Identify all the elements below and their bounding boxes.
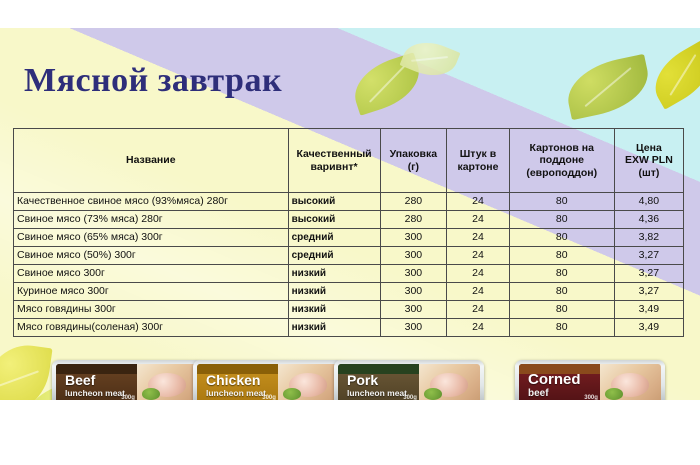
product-can-pork: Pork luncheon meat 300g — [334, 360, 484, 400]
can-weight-label: 300g — [584, 395, 598, 400]
cell-quality: низкий — [288, 319, 380, 337]
cell-price: 3,27 — [614, 265, 683, 283]
can-body: Pork luncheon meat 300g — [338, 364, 480, 400]
cell-quality: низкий — [288, 301, 380, 319]
cell-price: 3,49 — [614, 301, 683, 319]
column-header-package: Упаковка (г) — [380, 129, 447, 193]
can-food-photo — [137, 364, 198, 400]
cell-quality: средний — [288, 229, 380, 247]
cell-package: 300 — [380, 247, 447, 265]
can-food-photo — [278, 364, 339, 400]
column-header-quality-line1: Качественный — [296, 148, 371, 160]
leaf-decoration-icon — [562, 54, 655, 120]
column-header-pallet: Картонов на поддоне (европоддон) — [509, 129, 614, 193]
cell-price: 4,80 — [614, 193, 683, 211]
column-header-per-carton-line1: Штук в — [460, 148, 496, 160]
column-header-price-line2: EXW PLN — [625, 154, 673, 166]
cell-price: 3,27 — [614, 247, 683, 265]
can-weight-label: 300g — [403, 395, 417, 400]
page-title: Мясной завтрак — [24, 62, 282, 100]
column-header-quality: Качественный варивнт* — [288, 129, 380, 193]
can-label: Corned beef 300g — [519, 364, 600, 400]
can-body: Corned beef 300g — [519, 364, 661, 400]
cell-price: 3,27 — [614, 283, 683, 301]
cell-name: Свиное мясо (73% мяса) 280г — [14, 211, 289, 229]
cell-pallet: 80 — [509, 247, 614, 265]
price-table: Название Качественный варивнт* Упаковка … — [13, 128, 684, 337]
can-weight-label: 300g — [121, 395, 135, 400]
cell-name: Свиное мясо (50%) 300г — [14, 247, 289, 265]
cell-package: 280 — [380, 193, 447, 211]
can-weight-label: 300g — [262, 395, 276, 400]
table-row: Мясо говядины 300гнизкий30024803,49 — [14, 301, 684, 319]
table-header: Название Качественный варивнт* Упаковка … — [14, 129, 684, 193]
can-body: Beef luncheon meat 300g — [56, 364, 198, 400]
cell-pallet: 80 — [509, 193, 614, 211]
column-header-price: Цена EXW PLN (шт) — [614, 129, 683, 193]
leaf-decoration-icon — [347, 52, 427, 115]
can-label-top-stripe — [519, 364, 600, 374]
table-header-row: Название Качественный варивнт* Упаковка … — [14, 129, 684, 193]
can-product-name: Chicken — [206, 373, 278, 387]
cell-quality: средний — [288, 247, 380, 265]
can-food-photo — [419, 364, 480, 400]
cell-quality: высокий — [288, 211, 380, 229]
cell-price: 3,82 — [614, 229, 683, 247]
table-body: Качественное свиное мясо (93%мяса) 280гв… — [14, 193, 684, 337]
table-row: Качественное свиное мясо (93%мяса) 280гв… — [14, 193, 684, 211]
cell-name: Мясо говядины(соленая) 300г — [14, 319, 289, 337]
cell-per-carton: 24 — [447, 301, 509, 319]
cell-per-carton: 24 — [447, 211, 509, 229]
can-label-top-stripe — [197, 364, 278, 374]
column-header-price-line1: Цена — [636, 142, 662, 154]
leaf-decoration-icon — [400, 33, 461, 84]
cell-package: 300 — [380, 319, 447, 337]
product-can-beef: Beef luncheon meat 300g — [52, 360, 202, 400]
column-header-package-line1: Упаковка — [390, 148, 437, 160]
cell-price: 4,36 — [614, 211, 683, 229]
cell-package: 300 — [380, 283, 447, 301]
column-header-price-line3: (шт) — [638, 167, 659, 179]
table-row: Мясо говядины(соленая) 300гнизкий3002480… — [14, 319, 684, 337]
cell-quality: низкий — [288, 283, 380, 301]
can-label-top-stripe — [338, 364, 419, 374]
column-header-per-carton-line2: картоне — [457, 161, 498, 173]
cell-name: Свиное мясо (65% мяса) 300г — [14, 229, 289, 247]
can-label-top-stripe — [56, 364, 137, 374]
cell-package: 300 — [380, 265, 447, 283]
cell-name: Мясо говядины 300г — [14, 301, 289, 319]
cell-package: 280 — [380, 211, 447, 229]
cell-name: Качественное свиное мясо (93%мяса) 280г — [14, 193, 289, 211]
column-header-quality-line2: варивнт* — [311, 161, 358, 173]
can-label: Pork luncheon meat 300g — [338, 364, 419, 400]
can-body: Chicken luncheon meat 300g — [197, 364, 339, 400]
cell-name: Куриное мясо 300г — [14, 283, 289, 301]
cell-package: 300 — [380, 301, 447, 319]
column-header-pallet-line2: поддоне — [539, 154, 584, 166]
column-header-name-text: Название — [126, 154, 176, 166]
cell-package: 300 — [380, 229, 447, 247]
cell-quality: высокий — [288, 193, 380, 211]
column-header-per-carton: Штук в картоне — [447, 129, 509, 193]
cell-name: Свиное мясо 300г — [14, 265, 289, 283]
table-row: Куриное мясо 300гнизкий30024803,27 — [14, 283, 684, 301]
cell-per-carton: 24 — [447, 265, 509, 283]
can-food-photo — [600, 364, 661, 400]
can-label: Beef luncheon meat 300g — [56, 364, 137, 400]
cell-pallet: 80 — [509, 265, 614, 283]
cell-pallet: 80 — [509, 211, 614, 229]
cell-per-carton: 24 — [447, 283, 509, 301]
cell-per-carton: 24 — [447, 193, 509, 211]
slide-canvas: Мясной завтрак Название Качественный вар… — [0, 28, 700, 400]
cell-per-carton: 24 — [447, 229, 509, 247]
column-header-package-line2: (г) — [408, 161, 419, 173]
column-header-name: Название — [14, 129, 289, 193]
cell-pallet: 80 — [509, 319, 614, 337]
can-label: Chicken luncheon meat 300g — [197, 364, 278, 400]
cell-per-carton: 24 — [447, 319, 509, 337]
cell-pallet: 80 — [509, 301, 614, 319]
table-row: Свиное мясо (65% мяса) 300гсредний300248… — [14, 229, 684, 247]
leaf-decoration-icon — [644, 40, 700, 109]
cell-quality: низкий — [288, 265, 380, 283]
table-row: Свиное мясо (50%) 300гсредний30024803,27 — [14, 247, 684, 265]
cell-price: 3,49 — [614, 319, 683, 337]
table-row: Свиное мясо (73% мяса) 280гвысокий280248… — [14, 211, 684, 229]
can-product-name: Pork — [347, 373, 419, 387]
product-can-chicken: Chicken luncheon meat 300g — [193, 360, 343, 400]
column-header-pallet-line1: Картонов на — [530, 142, 594, 154]
product-can-corned-beef: Corned beef 300g — [515, 360, 665, 400]
product-can-row: Beef luncheon meat 300g Chicken luncheon… — [0, 354, 700, 400]
can-product-name: Beef — [65, 373, 137, 387]
cell-per-carton: 24 — [447, 247, 509, 265]
table-row: Свиное мясо 300гнизкий30024803,27 — [14, 265, 684, 283]
cell-pallet: 80 — [509, 229, 614, 247]
column-header-pallet-line3: (европоддон) — [526, 167, 597, 179]
cell-pallet: 80 — [509, 283, 614, 301]
